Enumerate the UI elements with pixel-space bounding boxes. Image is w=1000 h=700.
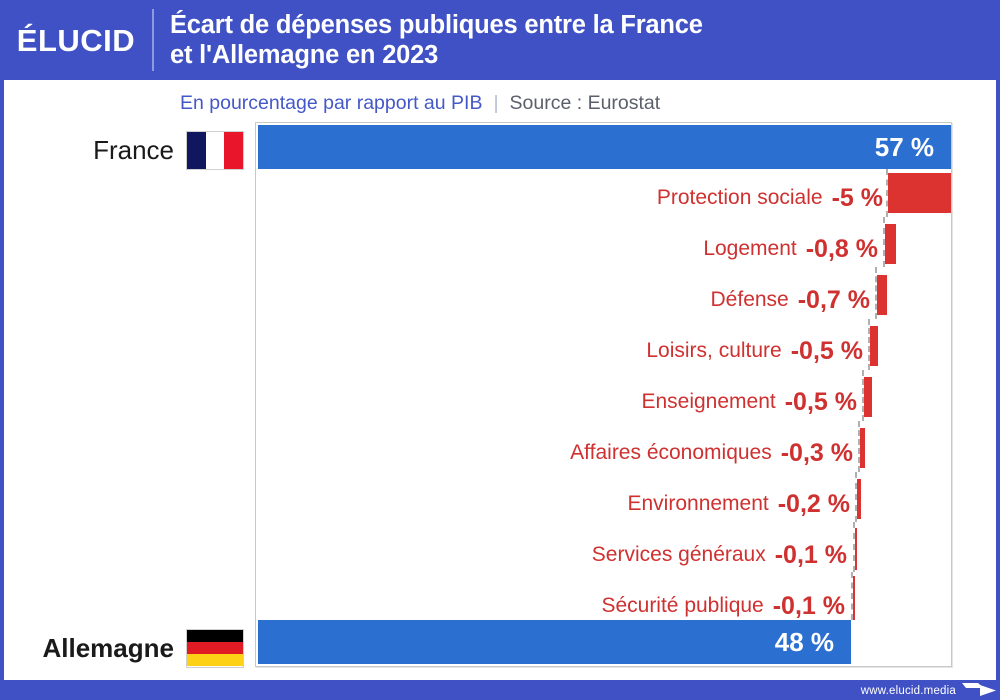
- waterfall-value-3: -0,5 %: [791, 337, 863, 366]
- waterfall-category-1: Logement: [703, 237, 796, 261]
- waterfall-bar-3: [870, 326, 878, 366]
- waterfall-row-0: Protection sociale -5 %: [256, 173, 883, 223]
- waterfall-bar-4: [864, 377, 872, 417]
- waterfall-bar-7: [855, 528, 857, 570]
- waterfall-value-5: -0,3 %: [781, 439, 853, 468]
- waterfall-row-3: Loisirs, culture -0,5 %: [256, 326, 863, 376]
- waterfall-value-8: -0,1 %: [773, 592, 845, 621]
- waterfall-category-6: Environnement: [627, 492, 768, 516]
- connector-6: [855, 472, 857, 522]
- waterfall-value-7: -0,1 %: [775, 541, 847, 570]
- waterfall-label-7: Services généraux -0,1 %: [592, 530, 847, 580]
- waterfall-row-7: Services généraux -0,1 %: [256, 530, 847, 580]
- waterfall-value-1: -0,8 %: [806, 235, 878, 264]
- elucid-logo: ÉLUCID: [0, 0, 152, 80]
- waterfall-category-5: Affaires économiques: [570, 441, 772, 465]
- waterfall-category-0: Protection sociale: [657, 186, 823, 210]
- waterfall-bar-2: [877, 275, 887, 315]
- connector-8: [851, 572, 853, 620]
- waterfall-value-6: -0,2 %: [778, 490, 850, 519]
- waterfall-category-7: Services généraux: [592, 543, 766, 567]
- header-bar: ÉLUCID Écart de dépenses publiques entre…: [0, 0, 1000, 80]
- title-line-1: Écart de dépenses publiques entre la Fra…: [170, 10, 717, 40]
- waterfall-row-5: Affaires économiques -0,3 %: [256, 428, 853, 478]
- flag-france-icon: [186, 131, 244, 170]
- waterfall-label-2: Défense -0,7 %: [711, 275, 870, 325]
- waterfall-label-4: Enseignement -0,5 %: [641, 377, 857, 427]
- waterfall-row-1: Logement -0,8 %: [256, 224, 878, 274]
- waterfall-value-0: -5 %: [832, 184, 883, 213]
- waterfall-category-2: Défense: [711, 288, 789, 312]
- title-line-2: et l'Allemagne en 2023: [170, 40, 717, 70]
- subtitle-main: En pourcentage par rapport au PIB: [180, 92, 482, 115]
- waterfall-label-1: Logement -0,8 %: [703, 224, 878, 274]
- connector-0: [886, 169, 888, 217]
- connector-4: [862, 370, 864, 421]
- waterfall-row-2: Défense -0,7 %: [256, 275, 870, 325]
- waterfall-label-6: Environnement -0,2 %: [627, 479, 850, 529]
- subtitle-divider: |: [493, 92, 498, 115]
- waterfall-label-5: Affaires économiques -0,3 %: [570, 428, 853, 478]
- waterfall-bar-6: [857, 479, 861, 519]
- connector-5: [858, 421, 860, 472]
- waterfall-label-0: Protection sociale -5 %: [657, 173, 883, 223]
- total-value-germany: 48 %: [775, 627, 851, 658]
- infographic-root: ÉLUCID Écart de dépenses publiques entre…: [0, 0, 1000, 700]
- waterfall-value-2: -0,7 %: [798, 286, 870, 315]
- subtitle-source: Source : Eurostat: [510, 92, 661, 115]
- waterfall-value-4: -0,5 %: [785, 388, 857, 417]
- total-value-france: 57 %: [875, 132, 951, 163]
- waterfall-category-3: Loisirs, culture: [646, 339, 781, 363]
- logo-text: ÉLUCID: [17, 25, 135, 56]
- waterfall-row-8: Sécurité publique -0,1 %: [256, 581, 845, 631]
- waterfall-bar-1: [885, 224, 896, 264]
- connector-1: [883, 217, 885, 267]
- connector-7: [853, 522, 855, 572]
- flag-germany-icon: [186, 629, 244, 668]
- connector-3: [868, 319, 870, 370]
- footer-url[interactable]: www.elucid.media: [861, 685, 956, 697]
- country-label-france: France: [4, 128, 244, 172]
- connector-2: [875, 267, 877, 319]
- waterfall-bar-5: [860, 428, 865, 468]
- total-bar-france: 57 %: [258, 125, 951, 169]
- waterfall-label-8: Sécurité publique -0,1 %: [601, 581, 845, 631]
- waterfall-chart-panel: 57 % 48 %: [255, 122, 952, 667]
- page-title: Écart de dépenses publiques entre la Fra…: [170, 10, 717, 70]
- header-divider: [152, 9, 154, 71]
- subtitle: En pourcentage par rapport au PIB | Sour…: [180, 88, 660, 118]
- footer-bar: www.elucid.media: [0, 680, 1000, 700]
- waterfall-row-4: Enseignement -0,5 %: [256, 377, 857, 427]
- waterfall-category-4: Enseignement: [641, 390, 775, 414]
- waterfall-label-3: Loisirs, culture -0,5 %: [646, 326, 863, 376]
- country-label-germany: Allemagne: [4, 626, 244, 670]
- country-name-germany: Allemagne: [43, 633, 175, 664]
- elucid-arrow-icon: [960, 682, 996, 699]
- content-board: En pourcentage par rapport au PIB | Sour…: [4, 80, 996, 680]
- waterfall-category-8: Sécurité publique: [601, 594, 763, 618]
- waterfall-row-6: Environnement -0,2 %: [256, 479, 850, 529]
- waterfall-bar-0: [888, 173, 951, 213]
- waterfall-bar-8: [853, 576, 855, 620]
- country-name-france: France: [93, 135, 174, 166]
